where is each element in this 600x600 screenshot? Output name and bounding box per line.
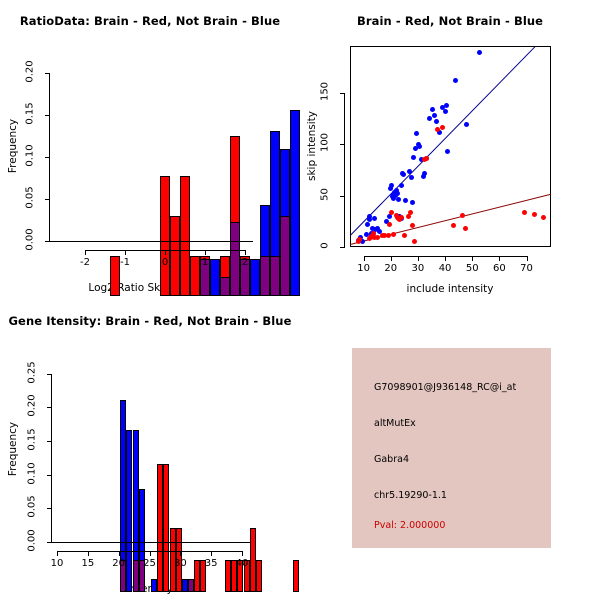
intensity-scatter-x-tick-label: 10 (349, 263, 379, 274)
intensity-scatter-point (407, 169, 412, 174)
ratio-histogram-y-tick-label: 0.10 (25, 141, 36, 171)
gene-intensity-histogram-x-tick-label: 30 (165, 558, 195, 569)
intensity-scatter-point (522, 210, 527, 215)
intensity-scatter-point (399, 215, 404, 220)
intensity-scatter-x-tick (472, 256, 473, 261)
intensity-scatter-point (410, 223, 415, 228)
intensity-scatter-point (408, 210, 413, 215)
intensity-scatter-y-axis-spine (344, 93, 345, 247)
ratio-histogram-x-tick-label: -1 (110, 257, 140, 268)
ratio-histogram-x-tick (165, 250, 166, 255)
intensity-scatter-point (443, 109, 448, 114)
intensity-scatter-point (365, 222, 370, 227)
intensity-scatter-xlabel: include intensity (340, 283, 560, 295)
intensity-scatter-point (386, 233, 391, 238)
intensity-scatter-point (387, 222, 392, 227)
gene-intensity-histogram-title: Gene Itensity: Brain - Red, Not Brain - … (0, 314, 300, 328)
gene-intensity-histogram-y-axis-spine (51, 374, 52, 542)
gene-intensity-histogram-y-tick-label: 0.20 (27, 391, 38, 421)
gene-intensity-histogram-x-tick (242, 551, 243, 556)
probe-id-text: G7098901@J936148_RC@i_at (374, 382, 516, 393)
gene-intensity-histogram-y-tick (47, 542, 52, 543)
intensity-scatter-point (430, 107, 435, 112)
gene-intensity-histogram-x-tick-label: 25 (135, 558, 165, 569)
gene-intensity-histogram-x-tick (119, 551, 120, 556)
ratio-histogram-bar-overlap (260, 256, 270, 296)
intensity-scatter-x-tick (364, 256, 365, 261)
intensity-scatter-point (532, 212, 537, 217)
gene-intensity-histogram-panel: Gene Itensity: Brain - Red, Not Brain - … (0, 300, 300, 600)
gene-intensity-histogram-x-tick (88, 551, 89, 556)
ratio-histogram-y-tick-label: 0.05 (25, 183, 36, 213)
intensity-scatter-point (434, 119, 439, 124)
intensity-scatter-point (402, 233, 407, 238)
intensity-scatter-plot-area (350, 46, 551, 247)
intensity-scatter-point (399, 183, 404, 188)
gene-intensity-histogram-ylabel: Frequency (7, 414, 19, 484)
intensity-scatter-point (440, 125, 445, 130)
intensity-scatter-point (463, 226, 468, 231)
gene-intensity-histogram-y-tick (47, 475, 52, 476)
intensity-scatter-point (391, 232, 396, 237)
intensity-scatter-point (411, 155, 416, 160)
ratio-histogram-bar (160, 176, 170, 296)
intensity-scatter-point (409, 175, 414, 180)
intensity-scatter-point (464, 122, 469, 127)
gene-intensity-histogram-y-tick (47, 441, 52, 442)
intensity-scatter-x-tick (499, 256, 500, 261)
intensity-scatter-x-tick (445, 256, 446, 261)
gene-info-panel: G7098901@J936148_RC@i_at altMutEx Gabra4… (300, 300, 600, 600)
ratio-histogram-plot-area (55, 55, 245, 241)
gene-intensity-histogram-x-tick-label: 10 (42, 558, 72, 569)
gene-intensity-histogram-y-tick (47, 374, 52, 375)
ratio-histogram-bar-overlap (280, 216, 290, 296)
intensity-scatter-point (445, 149, 450, 154)
gene-symbol-text: Gabra4 (374, 454, 409, 465)
ratio-histogram-x-tick (85, 250, 86, 255)
ratio-histogram-ylabel: Frequency (7, 111, 19, 181)
gene-intensity-histogram-x-tick-label: 15 (73, 558, 103, 569)
ratio-histogram-x-tick-label: 2 (230, 257, 260, 268)
intensity-scatter-y-tick (340, 144, 345, 145)
gene-intensity-histogram-x-tick-label: 40 (227, 558, 257, 569)
intensity-scatter-point (453, 78, 458, 83)
intensity-scatter-fit-line (350, 46, 535, 235)
intensity-scatter-point (451, 223, 456, 228)
intensity-scatter-y-tick (340, 247, 345, 248)
gene-intensity-histogram-bar (293, 560, 299, 592)
intensity-scatter-x-tick (418, 256, 419, 261)
gene-intensity-histogram-x-tick-label: 35 (196, 558, 226, 569)
intensity-scatter-point (389, 210, 394, 215)
intensity-scatter-x-tick-label: 40 (430, 263, 460, 274)
ratio-histogram-y-tick (45, 73, 50, 74)
intensity-scatter-point (422, 171, 427, 176)
intensity-scatter-point (444, 103, 449, 108)
ratio-histogram-title: RatioData: Brain - Red, Not Brain - Blue (0, 14, 300, 28)
locus-text: chr5.19290-1.1 (374, 490, 447, 501)
gene-intensity-histogram-y-tick (47, 407, 52, 408)
ratio-histogram-y-tick-label: 0.00 (25, 225, 36, 255)
ratio-histogram-baseline (47, 241, 253, 242)
ratio-histogram-bar (290, 110, 300, 296)
intensity-scatter-point (395, 191, 400, 196)
intensity-scatter-point (396, 197, 401, 202)
ratio-histogram-x-tick (125, 250, 126, 255)
gene-intensity-histogram-y-tick-label: 0.25 (27, 357, 38, 387)
intensity-scatter-point (424, 156, 429, 161)
ratio-histogram-y-tick-label: 0.20 (25, 57, 36, 87)
intensity-scatter-point (403, 198, 408, 203)
gene-intensity-histogram-x-tick (180, 551, 181, 556)
gene-intensity-histogram-x-tick-label: 20 (104, 558, 134, 569)
intensity-scatter-y-tick (340, 93, 345, 94)
gene-intensity-histogram-baseline (49, 542, 250, 543)
pvalue-text: Pval: 2.000000 (374, 520, 445, 531)
gene-info-box: G7098901@J936148_RC@i_at altMutEx Gabra4… (352, 348, 551, 548)
intensity-scatter-point (410, 200, 415, 205)
ratio-histogram-x-tick-label: 0 (150, 257, 180, 268)
gene-intensity-histogram-y-tick-label: 0.00 (27, 526, 38, 556)
gene-intensity-histogram-y-tick-label: 0.15 (27, 424, 38, 454)
intensity-scatter-point (417, 144, 422, 149)
event-type-text: altMutEx (374, 418, 416, 429)
ratio-histogram-y-tick (45, 241, 50, 242)
intensity-scatter-point (372, 216, 377, 221)
intensity-scatter-point (460, 213, 465, 218)
ratio-histogram-x-tick (245, 250, 246, 255)
intensity-scatter-panel: Brain - Red, Not Brain - Blue skip inten… (300, 0, 600, 300)
intensity-scatter-y-tick (340, 196, 345, 197)
intensity-scatter-y-tick-label: 100 (320, 128, 331, 158)
figure-canvas: RatioData: Brain - Red, Not Brain - Blue… (0, 0, 600, 600)
intensity-scatter-y-tick-label: 150 (320, 77, 331, 107)
ratio-histogram-panel: RatioData: Brain - Red, Not Brain - Blue… (0, 0, 300, 300)
ratio-histogram-y-tick (45, 157, 50, 158)
ratio-histogram-x-tick-label: 1 (190, 257, 220, 268)
intensity-scatter-y-tick-label: 50 (320, 179, 331, 209)
ratio-histogram-bar (180, 176, 190, 296)
ratio-histogram-bar-overlap (270, 256, 280, 296)
gene-intensity-histogram-x-tick (57, 551, 58, 556)
intensity-scatter-x-tick-label: 50 (457, 263, 487, 274)
ratio-histogram-x-tick (205, 250, 206, 255)
intensity-scatter-point (541, 215, 546, 220)
intensity-scatter-x-tick (391, 256, 392, 261)
intensity-scatter-point (401, 172, 406, 177)
intensity-scatter-x-tick-label: 20 (376, 263, 406, 274)
intensity-scatter-y-tick-label: 0 (320, 231, 331, 261)
gene-intensity-histogram-plot-area (57, 350, 242, 542)
gene-intensity-histogram-y-tick-label: 0.10 (27, 458, 38, 488)
gene-intensity-histogram-x-tick (211, 551, 212, 556)
gene-intensity-histogram-x-tick (150, 551, 151, 556)
intensity-scatter-ylabel: skip intensity (306, 111, 318, 181)
intensity-scatter-title: Brain - Red, Not Brain - Blue (300, 14, 600, 28)
gene-intensity-histogram-y-tick-label: 0.05 (27, 492, 38, 522)
intensity-scatter-point (477, 50, 482, 55)
intensity-scatter-point (389, 183, 394, 188)
intensity-scatter-point (432, 113, 437, 118)
intensity-scatter-point (412, 239, 417, 244)
intensity-scatter-x-tick-label: 30 (403, 263, 433, 274)
ratio-histogram-bar-overlap (220, 277, 230, 296)
ratio-histogram-y-tick (45, 115, 50, 116)
intensity-scatter-point (414, 131, 419, 136)
ratio-histogram-y-tick-label: 0.15 (25, 99, 36, 129)
intensity-scatter-x-tick-label: 70 (512, 263, 542, 274)
intensity-scatter-x-tick (527, 256, 528, 261)
gene-intensity-histogram-y-tick (47, 508, 52, 509)
ratio-histogram-y-tick (45, 199, 50, 200)
ratio-histogram-x-tick-label: -2 (70, 257, 100, 268)
intensity-scatter-x-tick-label: 60 (484, 263, 514, 274)
